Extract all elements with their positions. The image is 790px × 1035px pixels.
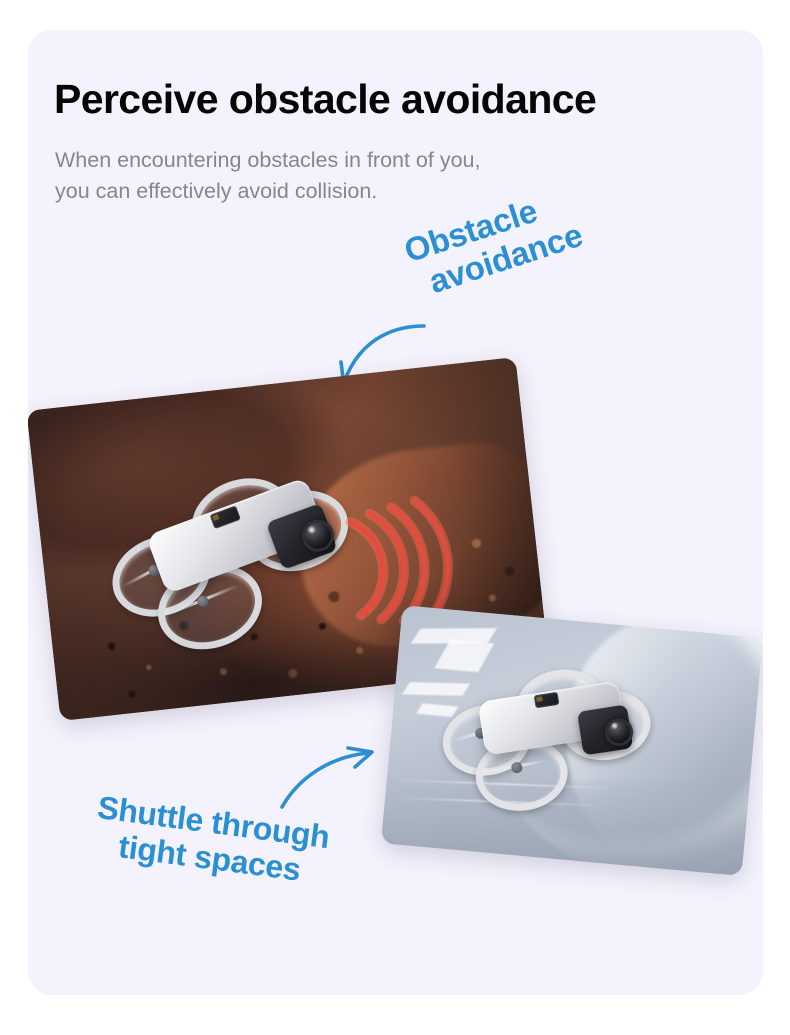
drone-tunnel [430,657,671,811]
annotation-shuttle-tight-spaces: Shuttle through tight spaces [91,790,332,892]
promo-panel: Perceive obstacle avoidance When encount… [28,30,763,995]
page-title: Perceive obstacle avoidance [54,78,744,121]
subtitle-line-1: When encountering obstacles in front of … [55,145,695,176]
subtitle-line-2: you can effectively avoid collision. [55,176,695,207]
page-subtitle: When encountering obstacles in front of … [55,145,695,206]
curved-arrow-up-right-icon [276,745,386,815]
tunnel-photo [381,605,763,876]
photo-card-tunnel [381,605,763,876]
